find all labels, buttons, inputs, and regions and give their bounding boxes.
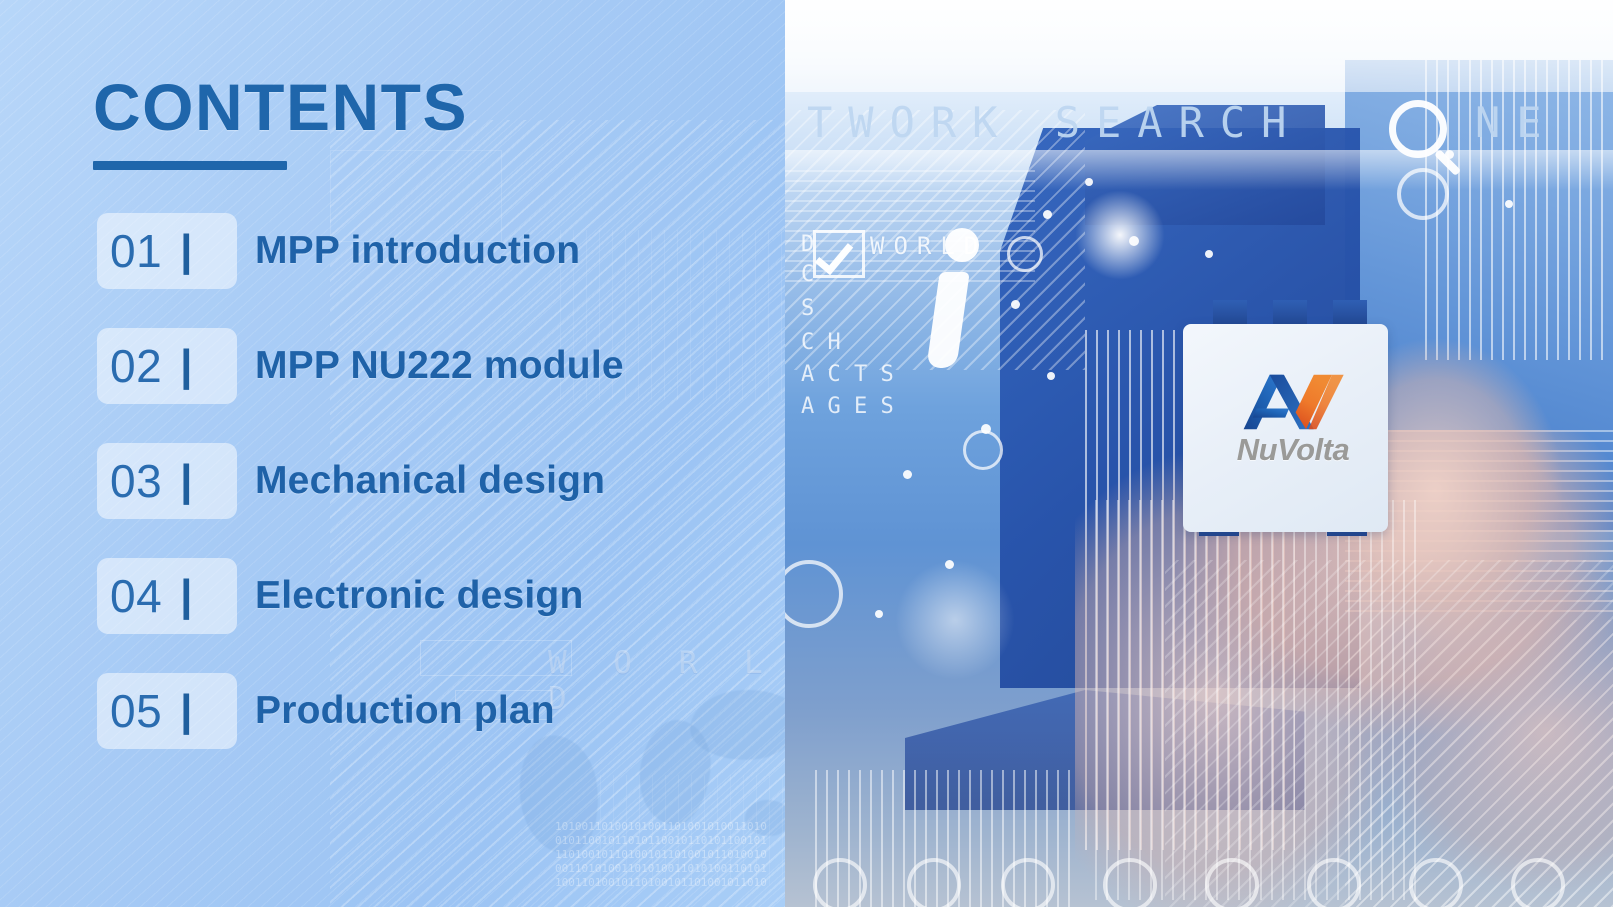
artwork-letters-ages: A G E S bbox=[801, 394, 894, 419]
list-item[interactable]: 04 | Electronic design bbox=[97, 557, 757, 635]
checkbox-checked-icon bbox=[813, 230, 865, 278]
nuvolta-logo-mark bbox=[1241, 372, 1345, 432]
artwork-letters-acts: A C T S bbox=[801, 362, 894, 387]
item-label[interactable]: MPP NU222 module bbox=[255, 344, 624, 388]
item-number: 03 bbox=[110, 458, 162, 504]
item-label[interactable]: Mechanical design bbox=[255, 459, 605, 503]
list-item[interactable]: 05 | Production plan bbox=[97, 672, 757, 750]
trace-node bbox=[1047, 372, 1055, 380]
ne-text: NE bbox=[1475, 98, 1558, 147]
info-icon-stem bbox=[926, 272, 969, 368]
pcb-ring-pad bbox=[963, 430, 1003, 470]
list-item[interactable]: 03 | Mechanical design bbox=[97, 442, 757, 520]
item-number-badge: 04 | bbox=[97, 558, 237, 634]
list-item[interactable]: 01 | MPP introduction bbox=[97, 212, 757, 290]
item-separator: | bbox=[180, 459, 192, 503]
artwork-letter-d: D bbox=[801, 232, 814, 257]
title-block: CONTENTS bbox=[93, 74, 468, 170]
nuvolta-wordmark: NuVolta bbox=[1213, 434, 1373, 465]
pcb-ring-pad-bottom bbox=[1001, 858, 1055, 907]
item-number-badge: 05 | bbox=[97, 673, 237, 749]
circuit-board-artwork: TWORK SEARCH NE WORLD D C S C H A C T S … bbox=[785, 0, 1613, 907]
left-contents-panel: W O R L D 101001101001010011010010100110… bbox=[0, 0, 800, 907]
item-number-badge: 01 | bbox=[97, 213, 237, 289]
info-i-icon bbox=[913, 228, 993, 368]
pcb-ring-pad-bottom bbox=[1205, 858, 1259, 907]
contents-slide: W O R L D 101001101001010011010010100110… bbox=[0, 0, 1613, 907]
page-title: CONTENTS bbox=[93, 74, 468, 140]
network-search-text: TWORK SEARCH bbox=[807, 98, 1302, 147]
light-glow bbox=[895, 560, 1015, 680]
item-number-badge: 03 | bbox=[97, 443, 237, 519]
title-underline bbox=[93, 161, 287, 170]
item-separator: | bbox=[180, 229, 192, 273]
binary-watermark-row3: 11010010110100101101001011010010 bbox=[555, 848, 767, 862]
chip-package: NuVolta bbox=[1177, 300, 1395, 530]
trace-bundle-over-hand-diagonal bbox=[1165, 560, 1613, 907]
artwork-letters-ch: C H bbox=[801, 330, 841, 355]
trace-node bbox=[875, 610, 883, 618]
trace-node bbox=[1205, 250, 1213, 258]
item-separator: | bbox=[180, 689, 192, 733]
white-overlay-band-secondary bbox=[785, 150, 1613, 190]
binary-watermark-row4: 00110101001101010011010100110101 bbox=[555, 862, 767, 876]
pcb-ring-pad-bottom bbox=[907, 858, 961, 907]
pcb-ring-pad-bottom bbox=[1103, 858, 1157, 907]
pcb-ring-pad-bottom bbox=[813, 858, 867, 907]
binary-watermark-row2: 01011001011010110010110101100101 bbox=[555, 834, 767, 848]
pcb-ring-pad bbox=[1007, 236, 1043, 272]
binary-watermark-row5: 10011010010110100101101001011010 bbox=[555, 876, 767, 890]
info-icon-dot bbox=[945, 228, 979, 262]
trace-node bbox=[1505, 200, 1513, 208]
checkmark-glyph bbox=[815, 235, 853, 275]
search-icon bbox=[1389, 100, 1467, 178]
item-number-badge: 02 | bbox=[97, 328, 237, 404]
item-separator: | bbox=[180, 574, 192, 618]
pcb-ring-pad-bottom bbox=[1409, 858, 1463, 907]
binary-watermark: 10100110100101001101001010011010 bbox=[555, 820, 767, 834]
item-label[interactable]: MPP introduction bbox=[255, 229, 580, 273]
contents-list: 01 | MPP introduction 02 | MPP NU222 mod… bbox=[97, 212, 757, 787]
trace-node bbox=[903, 470, 912, 479]
item-separator: | bbox=[180, 344, 192, 388]
list-item[interactable]: 02 | MPP NU222 module bbox=[97, 327, 757, 405]
nuvolta-logo: NuVolta bbox=[1213, 372, 1373, 465]
item-label[interactable]: Production plan bbox=[255, 689, 555, 733]
search-icon-handle bbox=[1434, 149, 1461, 176]
light-glow bbox=[1075, 190, 1165, 280]
pcb-ring-pad-bottom bbox=[1511, 858, 1565, 907]
item-number: 05 bbox=[110, 688, 162, 734]
trace-node bbox=[1043, 210, 1052, 219]
pcb-ring-pad bbox=[785, 560, 843, 628]
trace-node bbox=[1011, 300, 1020, 309]
pcb-ring-pad-bottom bbox=[1307, 858, 1361, 907]
item-number: 04 bbox=[110, 573, 162, 619]
item-label[interactable]: Electronic design bbox=[255, 574, 583, 618]
artwork-letter-s: S bbox=[801, 296, 814, 321]
item-number: 02 bbox=[110, 343, 162, 389]
white-overlay-band-top bbox=[785, 0, 1613, 92]
chip-body: NuVolta bbox=[1183, 324, 1388, 532]
item-number: 01 bbox=[110, 228, 162, 274]
artwork-letter-c: C bbox=[801, 262, 814, 287]
